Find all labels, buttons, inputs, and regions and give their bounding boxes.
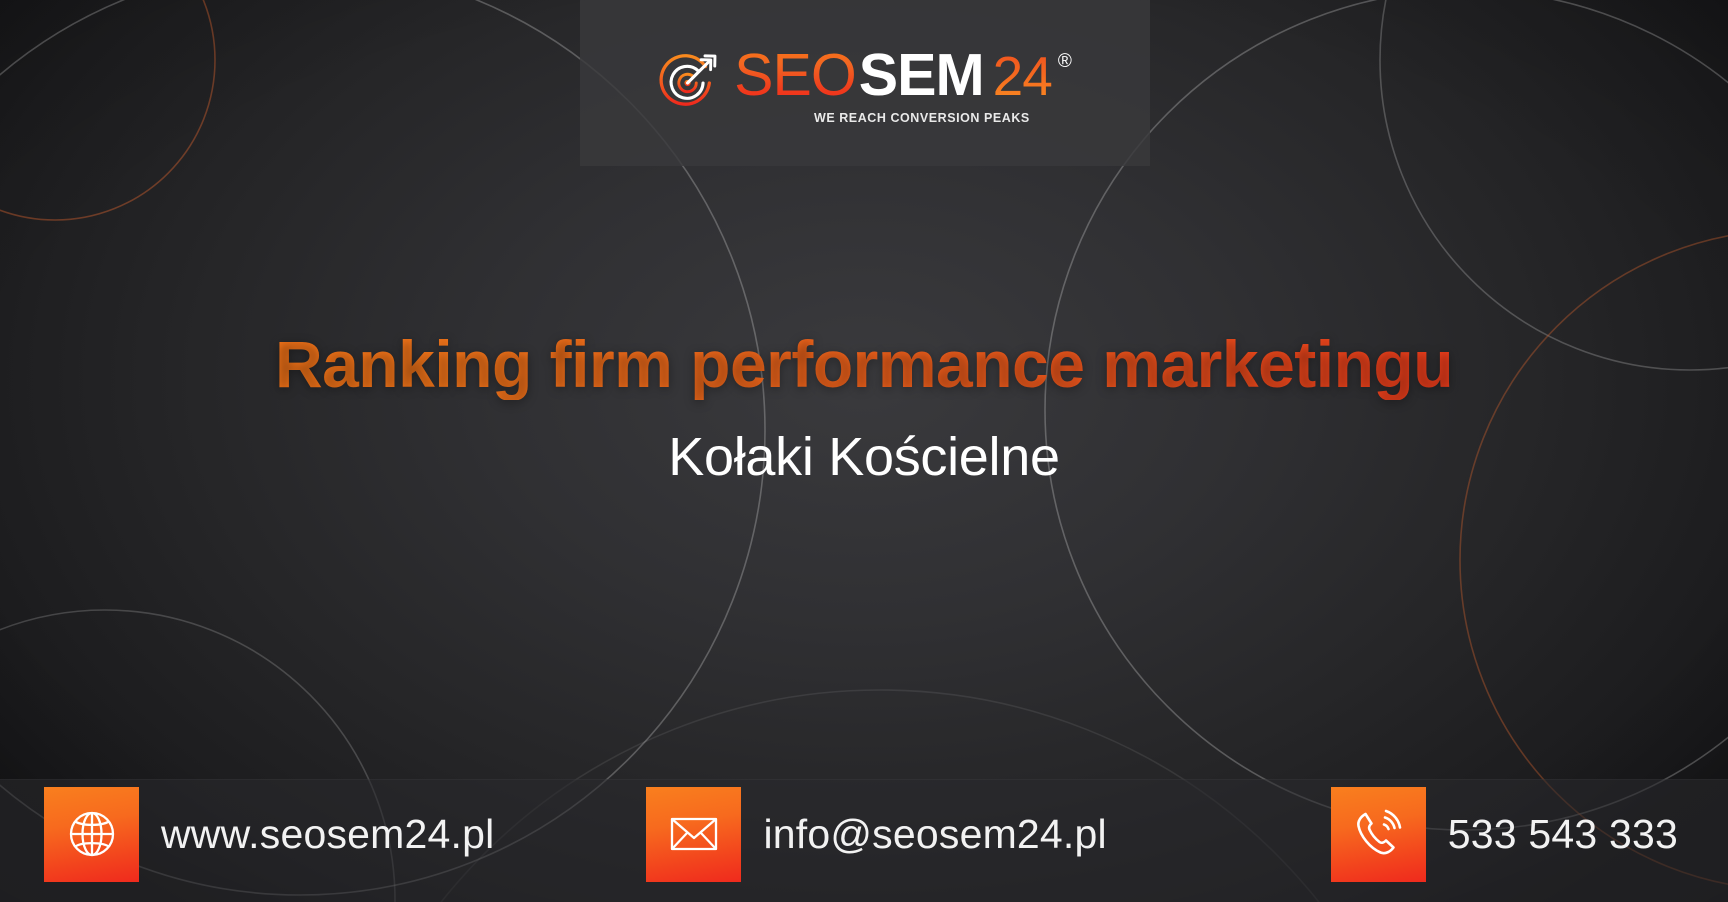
contact-email[interactable]: info@seosem24.pl: [646, 787, 1106, 882]
page-title: Ranking firm performance marketingu: [0, 330, 1728, 400]
registered-trademark-symbol: ®: [1058, 52, 1072, 71]
target-arrow-icon: [658, 52, 720, 114]
brand-logo[interactable]: SEO SEM 24 ® WE REACH CONVERSION PEAKS: [580, 0, 1150, 166]
headline-block: Ranking firm performance marketingu Koła…: [0, 330, 1728, 486]
logo-word-seo: SEO: [734, 46, 856, 105]
logo-tagline: WE REACH CONVERSION PEAKS: [814, 111, 1072, 125]
globe-icon: [44, 787, 139, 882]
contact-phone[interactable]: 533 543 333: [1331, 787, 1678, 882]
email-label: info@seosem24.pl: [763, 811, 1106, 858]
contact-footer-bar: www.seosem24.pl info@seosem24.pl: [0, 779, 1728, 902]
phone-label: 533 543 333: [1448, 811, 1678, 858]
slide-root: SEO SEM 24 ® WE REACH CONVERSION PEAKS R…: [0, 0, 1728, 902]
page-subtitle: Kołaki Kościelne: [0, 428, 1728, 486]
logo-word-sem: SEM: [859, 46, 984, 105]
logo-word-24: 24: [993, 49, 1052, 104]
website-label: www.seosem24.pl: [161, 811, 494, 858]
contact-website[interactable]: www.seosem24.pl: [44, 787, 494, 882]
phone-ringing-icon: [1331, 787, 1426, 882]
envelope-icon: [646, 787, 741, 882]
